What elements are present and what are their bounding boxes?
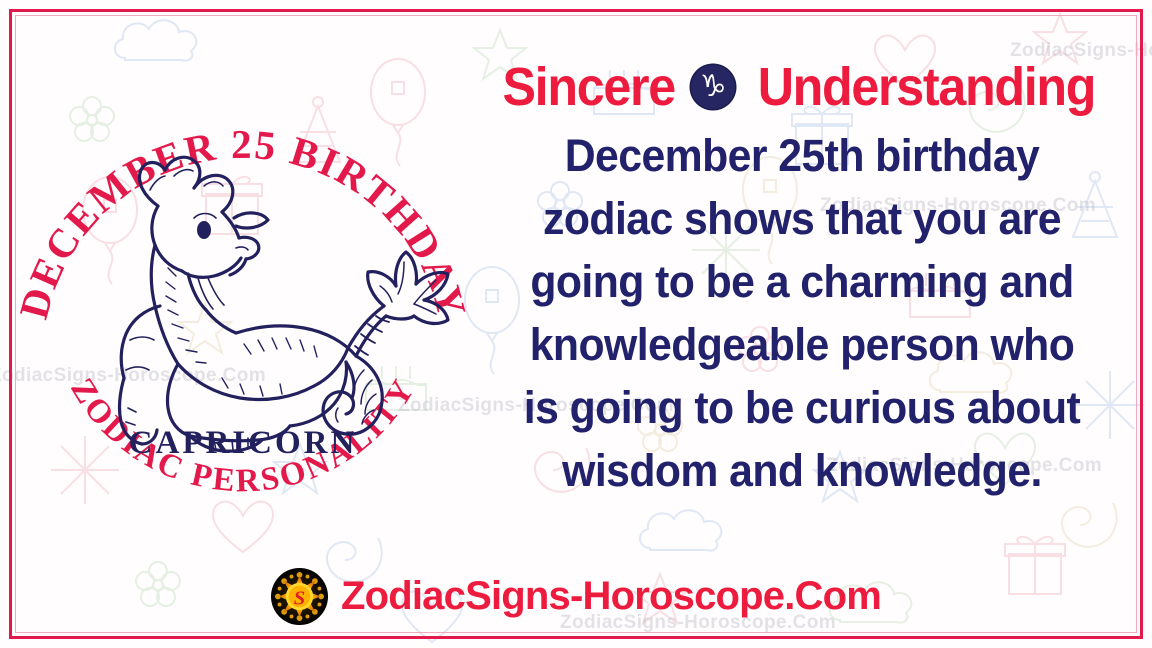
description-text: December 25th birthday zodiac shows that…	[483, 124, 1121, 502]
badge-sign-label: CAPRICORN	[8, 425, 478, 462]
description-line: zodiac shows that you are	[483, 187, 1121, 250]
headline-left-word: Sincere	[502, 60, 674, 114]
description-line: going to be a charming and	[483, 250, 1121, 313]
svg-text:S: S	[294, 587, 305, 609]
badge-svg: DECEMBER 25 BIRTHDAY ZODIAC PERSONALITY	[8, 78, 478, 548]
capricorn-zodiac-glyph-icon: ♑	[691, 65, 735, 109]
description-line: wisdom and knowledge.	[483, 439, 1121, 502]
content-column: Sincere ♑ Understanding December 25th bi…	[466, 56, 1138, 556]
site-name-text[interactable]: ZodiacSigns-Horoscope.Com	[341, 574, 881, 619]
zodiacsigns-sun-logo-icon[interactable]: S	[271, 568, 328, 625]
headline-right-word: Understanding	[758, 60, 1095, 114]
capricorn-glyph: ♑	[700, 72, 727, 102]
description-line: knowledgeable person who	[483, 313, 1121, 376]
birthday-zodiac-card: ZodiacSigns-Horoscope.Com ZodiacSigns-Ho…	[0, 0, 1152, 648]
description-line: December 25th birthday	[483, 124, 1121, 187]
site-footer: S ZodiacSigns-Horoscope.Com	[0, 565, 1152, 627]
description-line: is going to be curious about	[483, 376, 1121, 439]
badge-arc-top-text: DECEMBER 25 BIRTHDAY	[10, 121, 476, 324]
zodiac-badge: DECEMBER 25 BIRTHDAY ZODIAC PERSONALITY	[8, 78, 478, 548]
headline: Sincere ♑ Understanding	[466, 56, 1138, 118]
